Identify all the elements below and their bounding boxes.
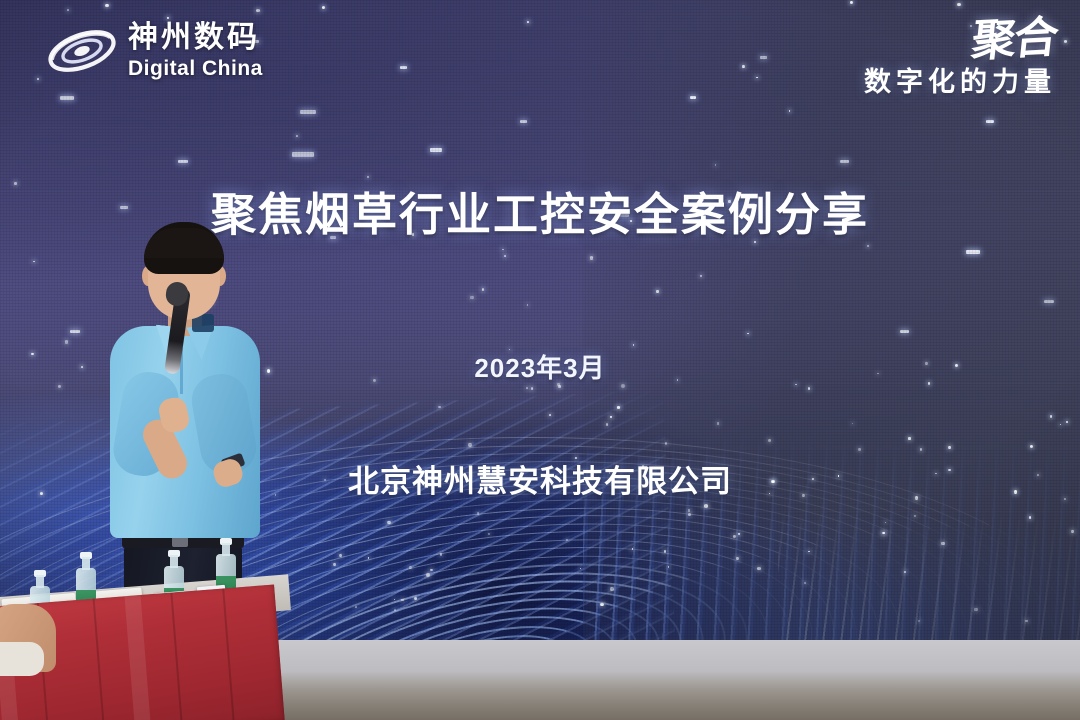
brand-name-cn: 神州数码 [128, 23, 263, 53]
bottle-neck [170, 555, 178, 568]
tablecloth-fold [170, 592, 183, 720]
seated-guest-sleeve [0, 642, 44, 676]
digital-china-logo: 神州数码 Digital China [46, 22, 263, 80]
bottle-neck [36, 575, 44, 588]
event-tagline: 数字化的力量 [864, 60, 1056, 99]
conference-photo: 神州数码 Digital China 聚合 数字化的力量 聚焦烟草行业工控安全案… [0, 0, 1080, 720]
tablecloth-highlight [125, 595, 152, 720]
event-calligraphy: 聚合 [969, 16, 1058, 64]
tablecloth-fold [93, 599, 106, 720]
brand-name-en: Digital China [128, 58, 263, 79]
tablecloth-fold [222, 588, 235, 720]
event-logo: 聚合 数字化的力量 [864, 18, 1056, 99]
swirl-galaxy-icon [46, 22, 118, 80]
bottle-neck [222, 543, 230, 556]
bottle-neck [82, 557, 90, 570]
